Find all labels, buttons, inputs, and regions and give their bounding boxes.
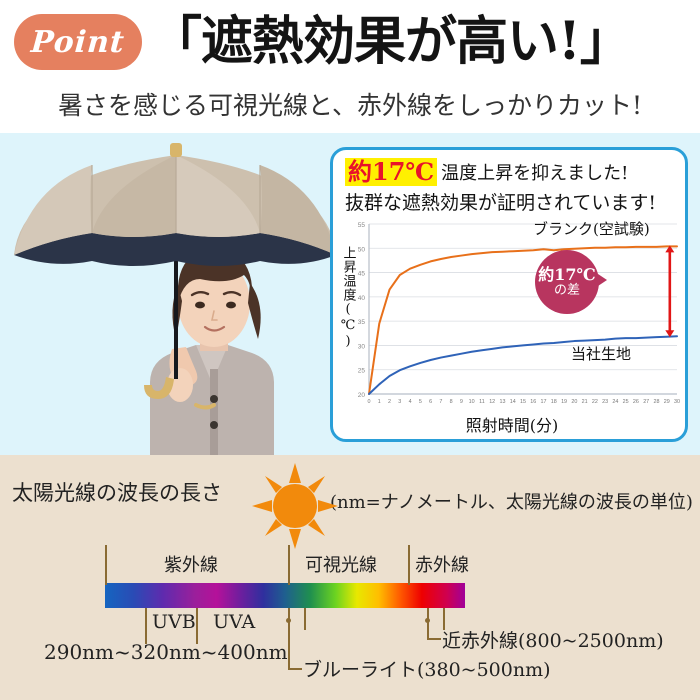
svg-text:8: 8 (450, 399, 453, 405)
chart-svg: 2025303540455055012345678910111213141516… (339, 216, 685, 416)
chart-headline-row: 約17℃温度上昇を抑えました! (345, 158, 679, 188)
difference-badge: 約17℃ の差 (535, 250, 599, 314)
svg-text:28: 28 (653, 399, 659, 405)
svg-text:21: 21 (582, 399, 588, 405)
spectrum-divider-left (105, 545, 107, 585)
svg-text:0: 0 (368, 399, 371, 405)
page-subtitle: 暑さを感じる可視光線と、赤外線をしっかりカット! (14, 86, 686, 122)
spectrum-divider-infrared (408, 545, 410, 585)
svg-text:2: 2 (388, 399, 391, 405)
series-label-ours: 当社生地 (571, 343, 631, 364)
svg-text:35: 35 (358, 319, 366, 326)
page-title: 「遮熱効果が高い!」 (150, 6, 695, 78)
svg-text:45: 45 (358, 271, 366, 278)
svg-text:55: 55 (358, 222, 366, 229)
series-label-blank: ブランク(空試験) (533, 218, 650, 239)
chart-card: 約17℃温度上昇を抑えました! 抜群な遮熱効果が証明されています! 上昇温度(℃… (330, 147, 688, 442)
sun-icon (252, 463, 338, 549)
band-label-infrared: 赤外線 (415, 551, 469, 577)
spectrum-tick-bluelight-end (304, 608, 306, 630)
svg-text:30: 30 (674, 399, 680, 405)
svg-text:14: 14 (510, 399, 516, 405)
svg-text:27: 27 (643, 399, 649, 405)
spectrum-tick-400nm (196, 608, 198, 644)
difference-badge-unit: の差 (554, 284, 580, 298)
temperature-line-chart: 2025303540455055012345678910111213141516… (339, 216, 685, 436)
svg-text:20: 20 (571, 399, 577, 405)
svg-text:5: 5 (419, 399, 422, 405)
callout-label-nir: 近赤外線(800~2500nm) (442, 626, 664, 653)
svg-text:4: 4 (409, 399, 412, 405)
svg-text:26: 26 (633, 399, 639, 405)
marketing-infographic: Point 「遮熱効果が高い!」 暑さを感じる可視光線と、赤外線をしっかりカット… (0, 0, 700, 700)
svg-text:25: 25 (623, 399, 629, 405)
spectrum-divider-visible (288, 545, 290, 585)
svg-text:3: 3 (398, 399, 401, 405)
svg-text:13: 13 (499, 399, 505, 405)
uv-label-uvb: UVB (152, 611, 196, 633)
umbrella-illustration (0, 133, 340, 455)
svg-text:11: 11 (479, 399, 485, 405)
callout-elbow-bluelight (288, 630, 302, 670)
difference-badge-value: 約17℃ (538, 267, 595, 284)
svg-text:40: 40 (358, 295, 366, 302)
nm-scale-label: 290nm~320nm~400nm (44, 640, 288, 664)
svg-text:30: 30 (358, 343, 366, 350)
point-badge: Point (14, 14, 142, 70)
svg-text:29: 29 (664, 399, 670, 405)
photo-and-chart-band: 約17℃温度上昇を抑えました! 抜群な遮熱効果が証明されています! 上昇温度(℃… (0, 133, 700, 455)
svg-text:19: 19 (561, 399, 567, 405)
svg-text:25: 25 (358, 368, 366, 375)
svg-text:24: 24 (612, 399, 618, 405)
svg-text:17: 17 (541, 399, 547, 405)
svg-text:1: 1 (378, 399, 381, 405)
umbrella-model-photo (0, 133, 340, 455)
difference-badge-tail (595, 272, 607, 288)
spectrum-tick-320nm (145, 608, 147, 644)
svg-text:9: 9 (460, 399, 463, 405)
svg-text:12: 12 (489, 399, 495, 405)
callout-label-bluelight: ブルーライト(380~500nm) (303, 655, 551, 682)
uv-label-uva: UVA (213, 611, 255, 633)
svg-text:10: 10 (469, 399, 475, 405)
temperature-highlight-rest: 温度上昇を抑えました! (437, 159, 628, 185)
chart-x-axis-label: 照射時間(分) (333, 412, 688, 436)
spectrum-dot-bluelight (286, 618, 291, 623)
svg-text:18: 18 (551, 399, 557, 405)
svg-text:15: 15 (520, 399, 526, 405)
temperature-highlight: 約17℃ (345, 158, 437, 186)
svg-text:50: 50 (358, 246, 366, 253)
svg-text:23: 23 (602, 399, 608, 405)
chart-subheadline: 抜群な遮熱効果が証明されています! (345, 188, 685, 215)
spectrum-note: (nm=ナノメートル、太陽光線の波長の単位) (330, 488, 693, 514)
callout-elbow-nir (427, 620, 441, 640)
band-label-visible: 可視光線 (305, 551, 377, 577)
svg-text:7: 7 (439, 399, 442, 405)
svg-text:6: 6 (429, 399, 432, 405)
header-section: Point 「遮熱効果が高い!」 暑さを感じる可視光線と、赤外線をしっかりカット… (0, 0, 700, 133)
svg-text:20: 20 (358, 392, 366, 399)
spectrum-title: 太陽光線の波長の長さ (12, 477, 222, 507)
light-spectrum-bar (105, 583, 465, 608)
svg-text:22: 22 (592, 399, 598, 405)
band-label-ultraviolet: 紫外線 (164, 551, 218, 577)
svg-text:16: 16 (530, 399, 536, 405)
point-badge-label: Point (30, 25, 126, 60)
